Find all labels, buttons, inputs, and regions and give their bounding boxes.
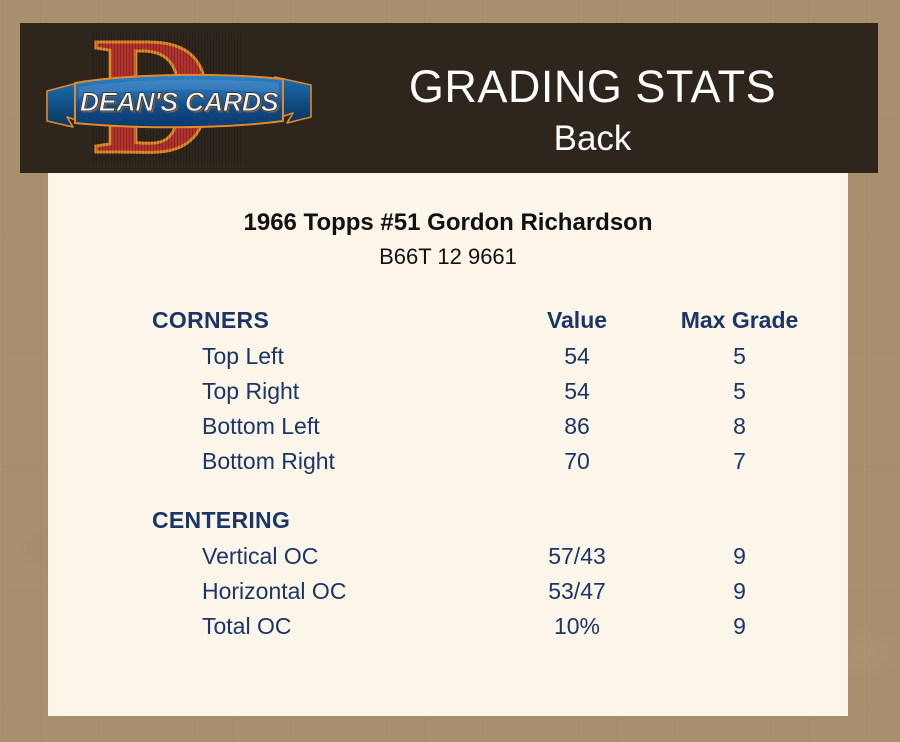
row-max-grade: 8 xyxy=(652,413,827,440)
card-title: 1966 Topps #51 Gordon Richardson xyxy=(48,208,848,238)
page-root: D xyxy=(0,0,900,742)
table-row: Bottom Right 70 7 xyxy=(152,448,848,483)
page-subtitle: Back xyxy=(320,118,865,160)
section-title-corners: CORNERS xyxy=(152,307,502,334)
row-max-grade: 9 xyxy=(652,613,827,640)
row-value: 86 xyxy=(502,413,652,440)
row-label: Horizontal OC xyxy=(152,578,502,605)
row-label: Bottom Left xyxy=(152,413,502,440)
stats-section-corners: CORNERS Value Max Grade Top Left 54 5 To… xyxy=(152,307,848,483)
logo-ribbon-text: DEAN'S CARDS xyxy=(45,71,313,133)
row-value: 70 xyxy=(502,448,652,475)
deans-cards-logo[interactable]: D xyxy=(45,25,313,171)
section-spacer xyxy=(152,493,848,507)
row-value: 57/43 xyxy=(502,543,652,570)
row-value: 53/47 xyxy=(502,578,652,605)
logo-ribbon: DEAN'S CARDS xyxy=(45,71,313,133)
table-row: Vertical OC 57/43 9 xyxy=(152,543,848,578)
row-value: 54 xyxy=(502,343,652,370)
row-label: Top Left xyxy=(152,343,502,370)
row-label: Top Right xyxy=(152,378,502,405)
section-title-centering: CENTERING xyxy=(152,507,502,534)
row-label: Bottom Right xyxy=(152,448,502,475)
section-header-row: CORNERS Value Max Grade xyxy=(152,307,848,343)
row-max-grade: 7 xyxy=(652,448,827,475)
row-max-grade: 5 xyxy=(652,378,827,405)
content-panel: 1966 Topps #51 Gordon Richardson B66T 12… xyxy=(48,173,848,716)
column-header-max-grade: Max Grade xyxy=(652,307,827,334)
row-max-grade: 5 xyxy=(652,343,827,370)
row-max-grade: 9 xyxy=(652,543,827,570)
table-row: Bottom Left 86 8 xyxy=(152,413,848,448)
card-identifier: B66T 12 9661 xyxy=(48,243,848,271)
grading-stats-table: CORNERS Value Max Grade Top Left 54 5 To… xyxy=(152,307,848,658)
stats-section-centering: CENTERING Vertical OC 57/43 9 Horizontal… xyxy=(152,507,848,648)
table-row: Top Left 54 5 xyxy=(152,343,848,378)
section-header-row: CENTERING xyxy=(152,507,848,543)
row-label: Vertical OC xyxy=(152,543,502,570)
row-value: 54 xyxy=(502,378,652,405)
page-title: GRADING STATS xyxy=(320,61,865,113)
row-max-grade: 9 xyxy=(652,578,827,605)
table-row: Horizontal OC 53/47 9 xyxy=(152,578,848,613)
table-row: Total OC 10% 9 xyxy=(152,613,848,648)
row-value: 10% xyxy=(502,613,652,640)
row-label: Total OC xyxy=(152,613,502,640)
table-row: Top Right 54 5 xyxy=(152,378,848,413)
column-header-value: Value xyxy=(502,307,652,334)
page-header: D xyxy=(20,23,878,173)
